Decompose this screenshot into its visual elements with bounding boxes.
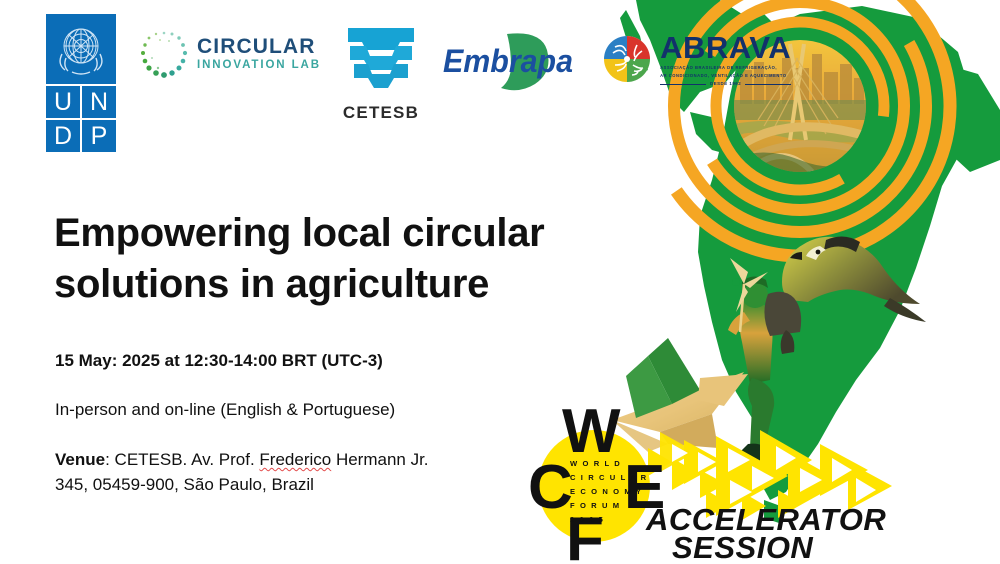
un-emblem-icon bbox=[46, 14, 116, 84]
rule-left bbox=[660, 84, 706, 85]
undp-letter-u: U bbox=[46, 86, 80, 118]
rule-right bbox=[745, 84, 791, 85]
embrapa-mark-icon: Embrapa bbox=[441, 32, 581, 92]
circular-innovation-lab-wordmark: CIRCULAR INNOVATION LAB bbox=[197, 36, 321, 72]
abrava-wheel-icon bbox=[603, 35, 651, 83]
wcef-wordmark-line-5: 2 0 2 5 bbox=[570, 515, 604, 524]
wcef-wordmark-line-4: F O R U M bbox=[570, 501, 621, 510]
partner-logo-bar: U N D P bbox=[46, 14, 791, 152]
event-datetime: 15 May: 2025 at 12:30-14:00 BRT (UTC-3) bbox=[55, 350, 575, 372]
venue-suffix: Hermann Jr. bbox=[331, 450, 428, 469]
abrava-tagline-line2: AR CONDICIONADO, VENTILAÇÃO E AQUECIMENT… bbox=[660, 73, 791, 79]
wcef-wordmark-line-1: W O R L D bbox=[570, 459, 621, 468]
title-line-2: solutions in agriculture bbox=[54, 259, 694, 310]
wcef-wordmark-line-2: C I R C U L A R bbox=[570, 473, 648, 482]
wcef-wordmark-line-3: E C O N O M Y bbox=[570, 487, 643, 496]
cetesb-mark-icon bbox=[344, 26, 418, 94]
event-poster: U N D P bbox=[0, 0, 1000, 564]
abrava-name: ABRAVA bbox=[660, 32, 791, 63]
title-line-1: Empowering local circular bbox=[54, 208, 694, 259]
circular-dots-icon bbox=[138, 28, 190, 80]
wcef-letter-f: F bbox=[566, 505, 604, 564]
cil-line1: CIRCULAR bbox=[197, 36, 321, 57]
event-venue: Venue: CETESB. Av. Prof. Frederico Herma… bbox=[55, 448, 575, 497]
svg-text:Embrapa: Embrapa bbox=[443, 43, 573, 79]
venue-line-1: Venue: CETESB. Av. Prof. Frederico Herma… bbox=[55, 450, 429, 469]
cetesb-logo: CETESB bbox=[343, 26, 419, 123]
circular-innovation-lab-logo: CIRCULAR INNOVATION LAB bbox=[138, 28, 321, 80]
undp-wordmark: U N D P bbox=[46, 86, 116, 152]
venue-label: Venue bbox=[55, 450, 105, 469]
cetesb-wordmark: CETESB bbox=[343, 103, 419, 123]
abrava-wordmark: ABRAVA ASSOCIAÇÃO BRASILEIRA DE REFRIGER… bbox=[660, 32, 791, 87]
wcef-tagline-line-2: SESSION bbox=[672, 530, 813, 564]
undp-logo: U N D P bbox=[46, 14, 116, 152]
embrapa-logo: Embrapa bbox=[441, 32, 581, 97]
undp-letter-n: N bbox=[82, 86, 116, 118]
undp-letter-d: D bbox=[46, 120, 80, 152]
venue-line-2: 345, 05459-900, São Paulo, Brazil bbox=[55, 473, 575, 498]
kiskadee-bird bbox=[764, 236, 926, 354]
page-title: Empowering local circular solutions in a… bbox=[54, 208, 694, 310]
undp-letter-p: P bbox=[82, 120, 116, 152]
abrava-since: DESDE 1962 bbox=[710, 82, 741, 86]
abrava-tagline-line1: ASSOCIAÇÃO BRASILEIRA DE REFRIGERAÇÃO, bbox=[660, 65, 791, 71]
cil-line2: INNOVATION LAB bbox=[197, 60, 321, 72]
event-details: 15 May: 2025 at 12:30-14:00 BRT (UTC-3) … bbox=[55, 350, 575, 497]
abrava-since-rule: DESDE 1962 bbox=[660, 82, 791, 86]
event-mode: In-person and on-line (English & Portugu… bbox=[55, 399, 575, 421]
abrava-logo: ABRAVA ASSOCIAÇÃO BRASILEIRA DE REFRIGER… bbox=[603, 32, 791, 87]
venue-spellcheck-word: Frederico bbox=[259, 450, 331, 469]
wcef-accelerator-logo: W C E F W O R L D C I R C U L A R E C O … bbox=[522, 404, 922, 564]
venue-prefix: : CETESB. Av. Prof. bbox=[105, 450, 259, 469]
